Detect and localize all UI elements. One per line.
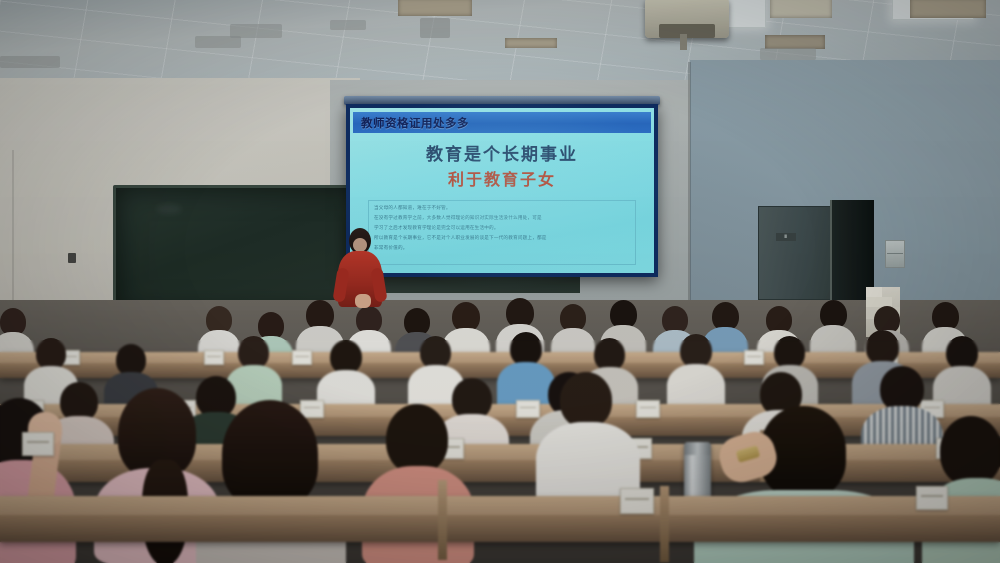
ceiling-vent bbox=[910, 0, 986, 18]
ceiling-vent bbox=[505, 38, 557, 48]
wall-cabinet bbox=[758, 206, 834, 300]
slide-body-textbox: 当父母的人都知道，难在于不好管。 在没有学过教育学之前，大多数人觉得理论的知识对… bbox=[368, 200, 636, 265]
slide-heading-secondary: 利于教育子女 bbox=[350, 166, 654, 190]
ceiling-vent bbox=[398, 0, 472, 16]
cabinet-sign: Ⅲ bbox=[776, 233, 796, 241]
desk-divider bbox=[438, 480, 447, 560]
slide-title: 教师资格证用处多多 bbox=[361, 115, 469, 131]
presenter bbox=[338, 228, 382, 320]
desk-name-card bbox=[636, 400, 660, 418]
cabinet-sign-text: Ⅲ bbox=[784, 235, 788, 240]
ceiling-panel-shadow bbox=[0, 56, 60, 68]
desk-name-card bbox=[292, 350, 312, 365]
lecture-hall-scene: 教师资格证用处多多 教育是个长期事业 利于教育子女 当父母的人都知道，难在于不好… bbox=[0, 0, 1000, 563]
ceiling-vent bbox=[420, 18, 450, 38]
slide-title-bar: 教师资格证用处多多 bbox=[353, 112, 651, 133]
desk-name-card bbox=[204, 350, 224, 365]
presenter-hand bbox=[355, 294, 371, 308]
ceiling-panel-shadow bbox=[760, 48, 816, 60]
open-door bbox=[830, 200, 874, 300]
slide-body-line: 在没有学过教育学之前，大多数人觉得理论的知识对实际生活没什么用处，可是 bbox=[374, 215, 630, 223]
projection-screen: 教师资格证用处多多 教育是个长期事业 利于教育子女 当父母的人都知道，难在于不好… bbox=[346, 104, 658, 277]
desk-name-card bbox=[916, 486, 948, 510]
desk-divider bbox=[660, 486, 669, 562]
thermos-cap bbox=[684, 442, 711, 455]
ceiling-vent bbox=[765, 35, 825, 49]
desk-name-card bbox=[744, 350, 764, 365]
light-switch-panel[interactable] bbox=[885, 240, 905, 268]
ceiling-vent bbox=[770, 0, 832, 18]
projector-mount bbox=[680, 34, 687, 50]
slide-body-line: 学习了之后才发现教育学理论是完全可以运用在生活中的。 bbox=[374, 225, 630, 233]
desk-name-card bbox=[620, 488, 654, 514]
ceiling-panel-shadow bbox=[195, 36, 241, 48]
desk-row bbox=[0, 496, 1000, 542]
slide-body-line: 所以教育是个长期事业，它不是对个人职业发展的谈是下一代的教育问题上，都是 bbox=[374, 235, 630, 243]
presentation-slide: 教师资格证用处多多 教育是个长期事业 利于教育子女 当父母的人都知道，难在于不好… bbox=[350, 108, 654, 273]
slide-heading-primary: 教育是个长期事业 bbox=[350, 140, 654, 165]
desk-name-card bbox=[516, 400, 540, 418]
slide-body-line: 非常有价值的。 bbox=[374, 245, 630, 253]
slide-body-line: 当父母的人都知道，难在于不好管。 bbox=[374, 205, 630, 213]
wall-outlet bbox=[68, 253, 76, 263]
ceiling-projector bbox=[645, 0, 729, 38]
desk-name-card bbox=[22, 432, 54, 456]
ceiling-panel-shadow bbox=[330, 20, 366, 30]
